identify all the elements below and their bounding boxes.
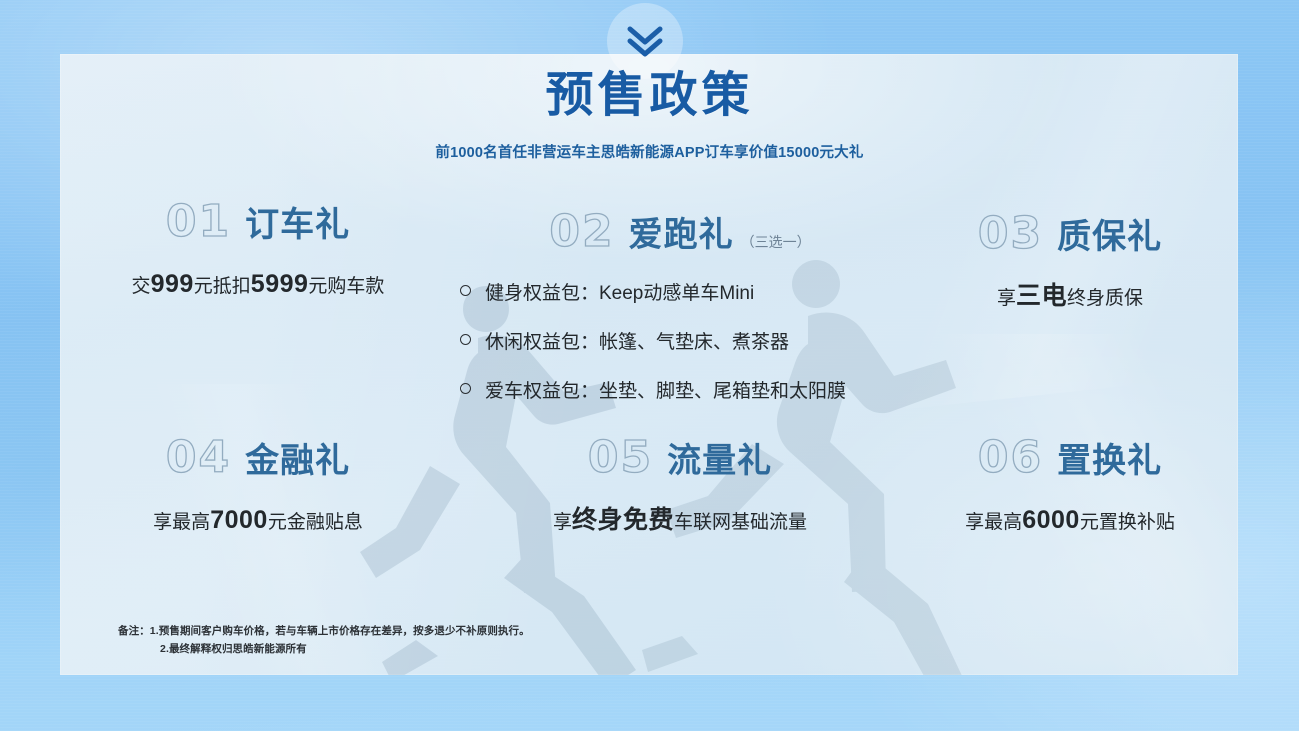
benefit-highlight-value: 终身免费 <box>572 506 674 534</box>
benefit-title: 金融礼 <box>245 444 350 478</box>
list-item-label: 爱车权益包：坐垫、脚垫、尾箱垫和太阳膜 <box>485 376 846 403</box>
benefit-heading: 04 金融礼 <box>78 436 438 480</box>
benefit-title: 订车礼 <box>245 208 350 242</box>
benefit-item-03: 03 质保礼 享三电终身质保 <box>915 212 1225 316</box>
benefit-text-part: 终身质保 <box>1067 288 1143 309</box>
benefits-grid: 01 订车礼 交999元抵扣5999元购车款 02 爱跑礼 （三选一） 健身权益… <box>60 200 1238 600</box>
benefit-number: 03 <box>978 212 1043 256</box>
circle-bullet-icon <box>460 334 471 345</box>
benefit-text-part: 元金融贴息 <box>268 512 363 533</box>
benefit-text-part: 享最高 <box>153 512 210 533</box>
benefit-text-part: 享 <box>553 512 572 533</box>
benefit-text-part: 交 <box>132 276 151 297</box>
benefit-number: 05 <box>588 436 653 480</box>
benefit-description: 享最高7000元金融贴息 <box>78 502 438 540</box>
list-item: 健身权益包：Keep动感单车Mini <box>460 278 900 305</box>
benefit-title: 爱跑礼 <box>629 218 734 252</box>
benefit-highlight-value: 5999 <box>251 270 309 298</box>
benefit-item-01: 01 订车礼 交999元抵扣5999元购车款 <box>78 200 438 304</box>
benefit-text-part: 享最高 <box>965 512 1022 533</box>
benefit-description: 交999元抵扣5999元购车款 <box>78 266 438 304</box>
benefit-heading: 01 订车礼 <box>78 200 438 244</box>
footnote-line-1: 备注：1.预售期间客户购车价格，若与车辆上市价格存在差异，按多退少不补原则执行。 <box>118 622 530 640</box>
benefit-item-05: 05 流量礼 享终身免费车联网基础流量 <box>460 436 900 540</box>
benefit-item-04: 04 金融礼 享最高7000元金融贴息 <box>78 436 438 540</box>
double-chevron-down-icon <box>624 24 666 58</box>
benefit-highlight-value: 7000 <box>210 506 268 534</box>
page-subtitle: 前1000名首任非营运车主思皓新能源APP订车享价值15000元大礼 <box>0 141 1299 162</box>
benefit-heading: 06 置换礼 <box>915 436 1225 480</box>
benefit-highlight-value: 三电 <box>1016 282 1067 310</box>
benefit-title-note: （三选一） <box>741 232 811 252</box>
list-item-label: 健身权益包：Keep动感单车Mini <box>485 278 754 305</box>
circle-bullet-icon <box>460 285 471 296</box>
benefit-number: 06 <box>978 436 1043 480</box>
footnote-line-2: 2.最终解释权归思皓新能源所有 <box>118 640 530 658</box>
benefit-heading: 03 质保礼 <box>915 212 1225 256</box>
list-item: 爱车权益包：坐垫、脚垫、尾箱垫和太阳膜 <box>460 376 900 403</box>
benefit-text-part: 元置换补贴 <box>1080 512 1175 533</box>
benefit-heading: 02 爱跑礼 （三选一） <box>460 210 900 254</box>
presale-policy-slide: 预售政策 前1000名首任非营运车主思皓新能源APP订车享价值15000元大礼 … <box>0 0 1299 731</box>
benefit-number: 01 <box>166 200 231 244</box>
benefit-item-06: 06 置换礼 享最高6000元置换补贴 <box>915 436 1225 540</box>
footnote: 备注：1.预售期间客户购车价格，若与车辆上市价格存在差异，按多退少不补原则执行。… <box>118 622 530 659</box>
benefit-title: 质保礼 <box>1057 220 1162 254</box>
list-item: 休闲权益包：帐篷、气垫床、煮茶器 <box>460 327 900 354</box>
benefit-text-part: 享 <box>997 288 1016 309</box>
page-title: 预售政策 <box>0 68 1299 125</box>
circle-bullet-icon <box>460 383 471 394</box>
benefit-heading: 05 流量礼 <box>460 436 900 480</box>
benefit-number: 02 <box>549 210 614 254</box>
benefit-item-02: 02 爱跑礼 （三选一） 健身权益包：Keep动感单车Mini 休闲权益包：帐篷… <box>460 210 900 403</box>
header: 预售政策 前1000名首任非营运车主思皓新能源APP订车享价值15000元大礼 <box>0 68 1299 162</box>
benefit-description: 享终身免费车联网基础流量 <box>460 502 900 540</box>
benefit-text-part: 元抵扣 <box>194 276 251 297</box>
benefit-highlight-value: 6000 <box>1022 506 1080 534</box>
list-item-label: 休闲权益包：帐篷、气垫床、煮茶器 <box>485 327 789 354</box>
benefit-description: 享三电终身质保 <box>915 278 1225 316</box>
benefit-description: 享最高6000元置换补贴 <box>915 502 1225 540</box>
benefit-text-part: 车联网基础流量 <box>674 512 807 533</box>
benefit-highlight-value: 999 <box>151 270 194 298</box>
benefit-option-list: 健身权益包：Keep动感单车Mini 休闲权益包：帐篷、气垫床、煮茶器 爱车权益… <box>460 278 900 403</box>
benefit-title: 置换礼 <box>1057 444 1162 478</box>
benefit-number: 04 <box>166 436 231 480</box>
benefit-text-part: 元购车款 <box>308 276 384 297</box>
benefit-title: 流量礼 <box>667 444 772 478</box>
